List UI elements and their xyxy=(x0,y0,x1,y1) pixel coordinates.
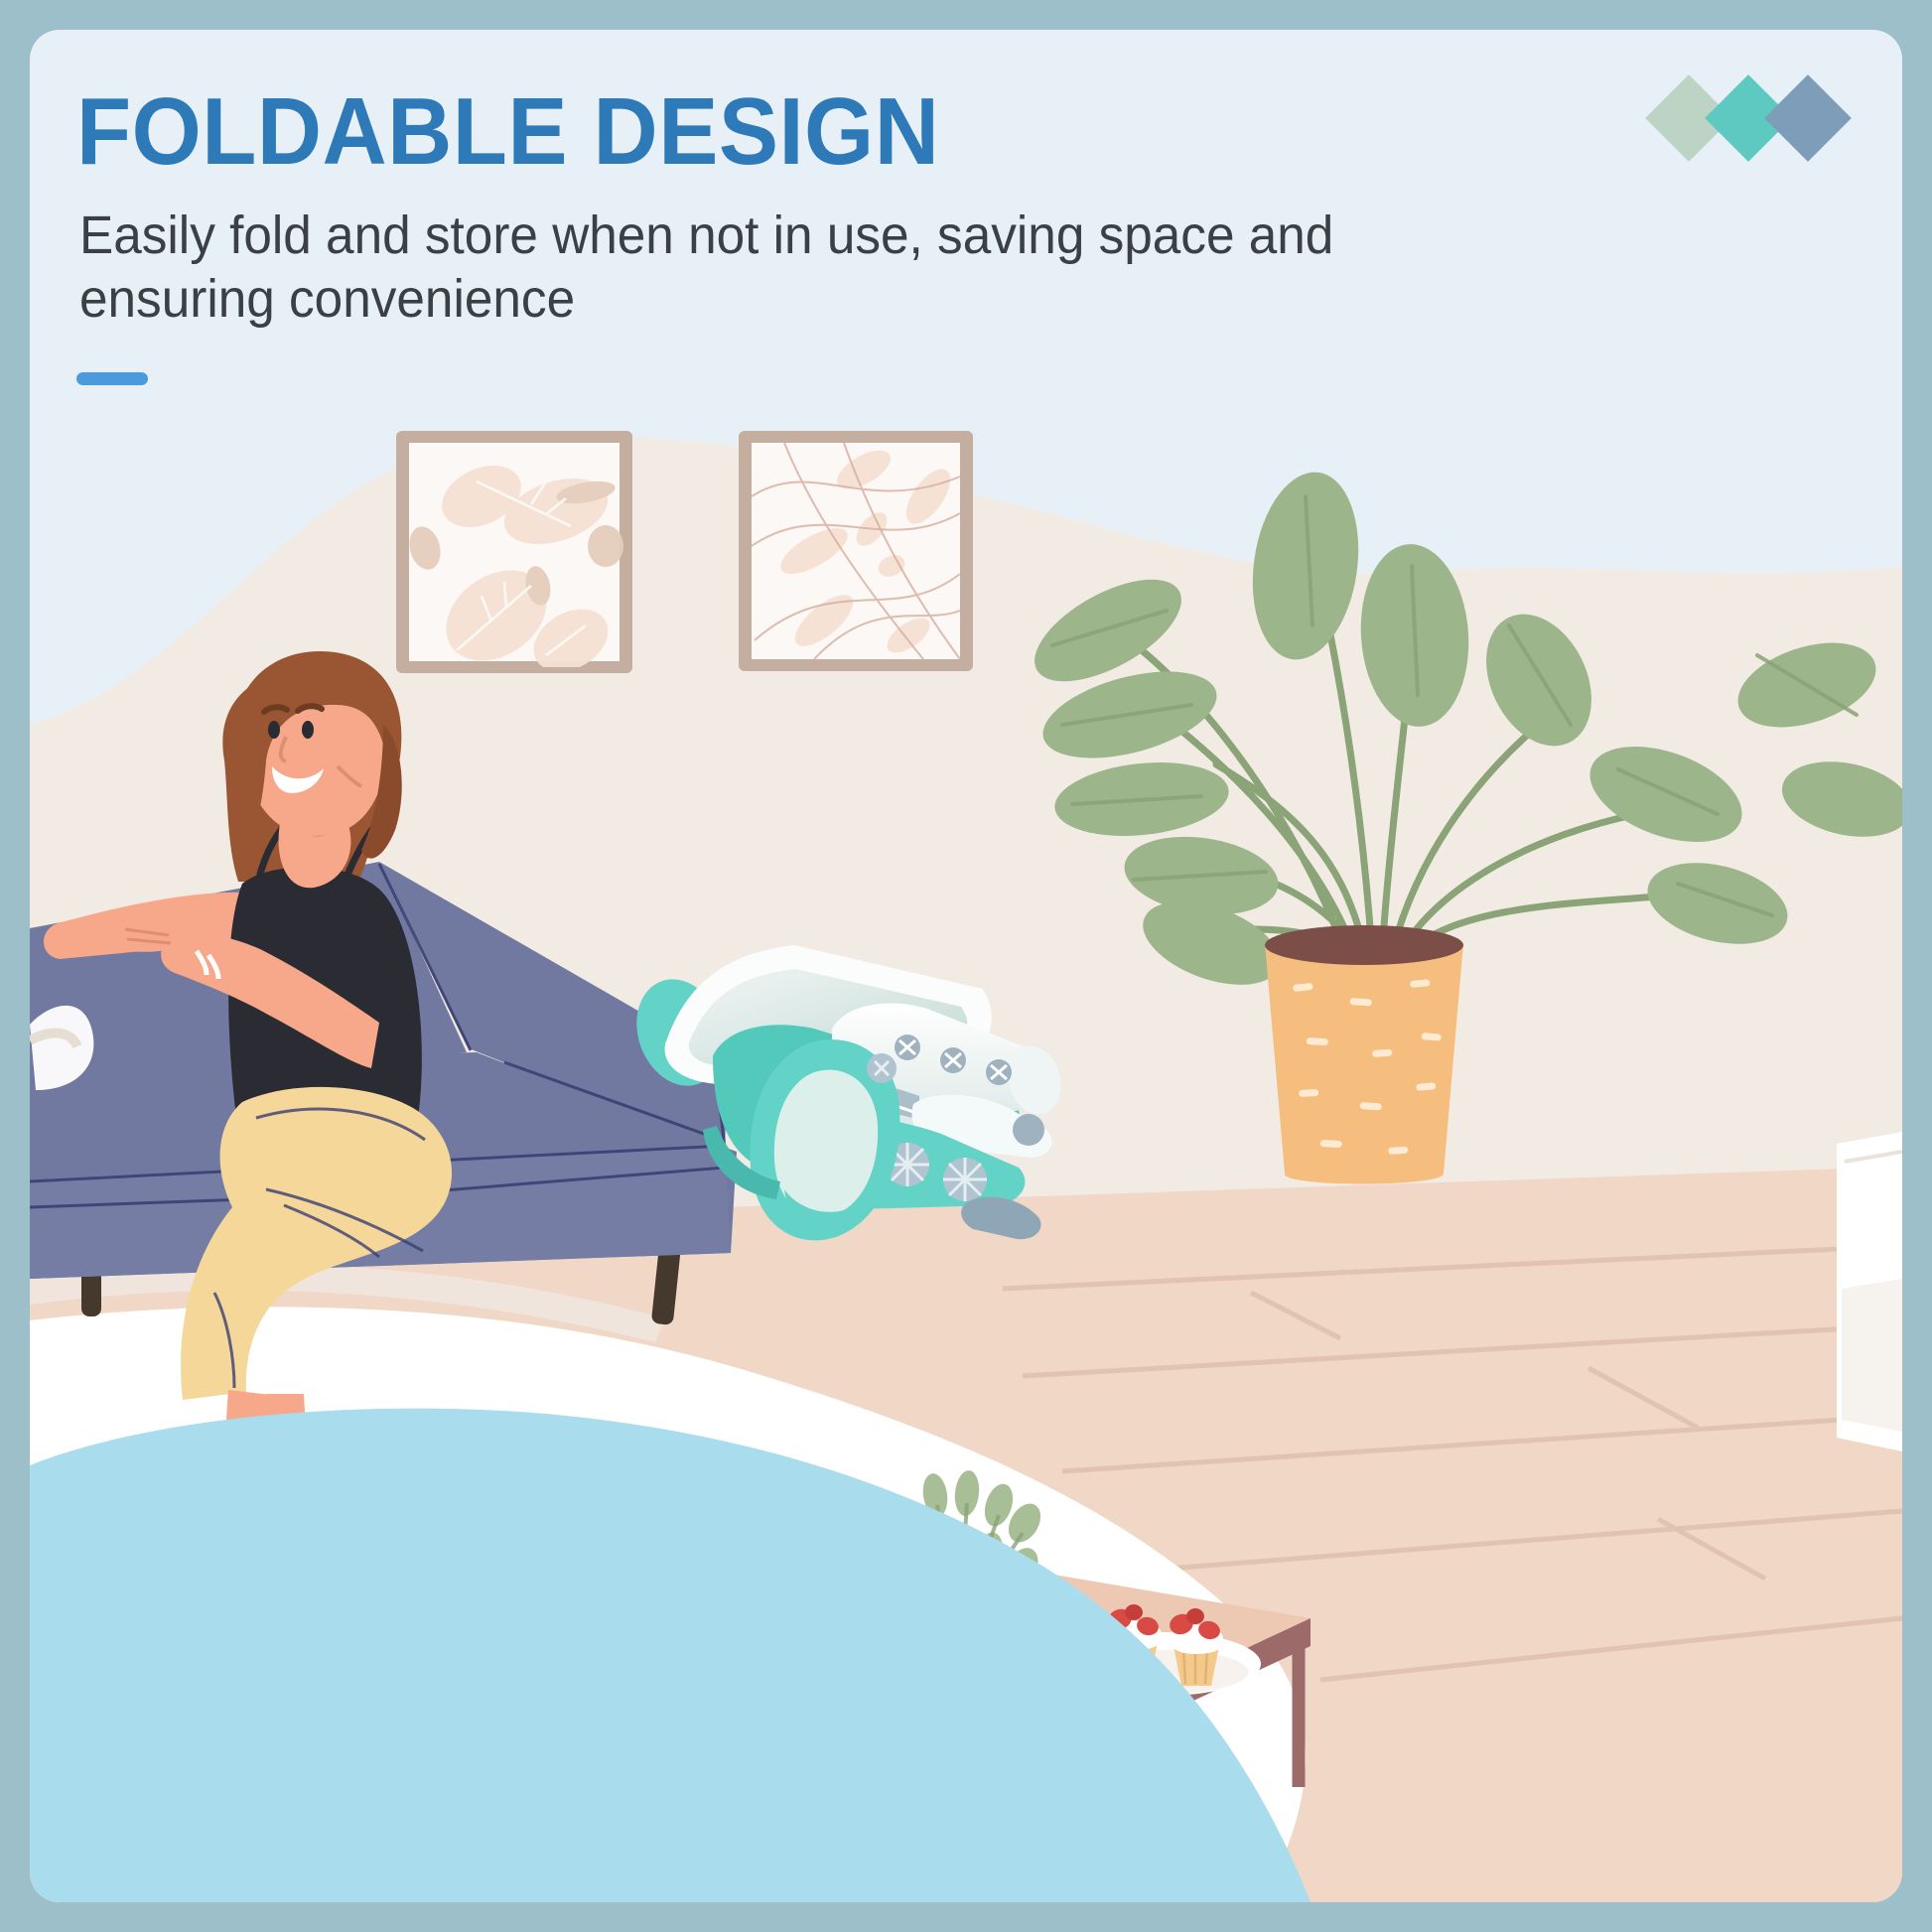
accent-dash xyxy=(76,372,148,385)
product-feature-card: FOLDABLE DESIGN Easily fold and store wh… xyxy=(30,30,1902,1902)
page-title: FOLDABLE DESIGN xyxy=(76,84,939,180)
side-cabinet xyxy=(1837,1132,1902,1451)
diamond-decoration xyxy=(1660,87,1837,149)
plant-pot xyxy=(1265,943,1463,1184)
screenshot-root: FOLDABLE DESIGN Easily fold and store wh… xyxy=(0,0,1932,1932)
page-subtitle: Easily fold and store when not in use, s… xyxy=(79,204,1362,332)
